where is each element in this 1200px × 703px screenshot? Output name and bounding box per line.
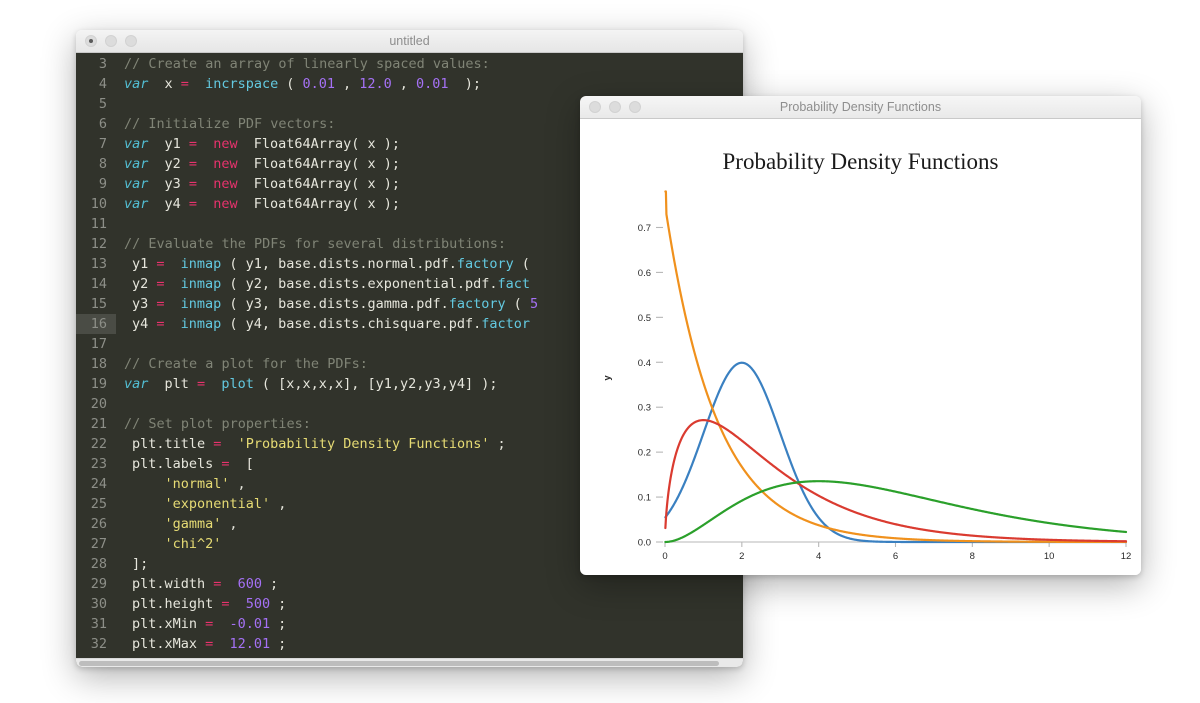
line-number: 22 — [76, 434, 116, 454]
line-number: 3 — [76, 54, 116, 74]
line-number: 15 — [76, 294, 116, 314]
y-tick-label: 0.5 — [638, 313, 651, 324]
line-source — [116, 334, 124, 354]
x-tick-label: 4 — [816, 551, 821, 562]
line-number: 13 — [76, 254, 116, 274]
y-tick-label: 0.3 — [638, 403, 651, 414]
minimize-button[interactable] — [105, 35, 117, 47]
line-number: 24 — [76, 474, 116, 494]
line-source: ]; — [116, 554, 148, 574]
plot-titlebar[interactable]: Probability Density Functions — [580, 96, 1141, 119]
line-number: 27 — [76, 534, 116, 554]
line-number: 25 — [76, 494, 116, 514]
line-number: 9 — [76, 174, 116, 194]
code-line[interactable]: 31plt.xMin = -0.01; — [76, 614, 743, 634]
line-source: plt.height = 500; — [116, 594, 286, 614]
line-source: plt.labels = [ — [116, 454, 254, 474]
line-number: 28 — [76, 554, 116, 574]
line-number: 21 — [76, 414, 116, 434]
line-source: // Evaluate the PDFs for several distrib… — [116, 234, 506, 254]
x-tick-label: 2 — [739, 551, 744, 562]
line-source: var y1 = new Float64Array( x ); — [116, 134, 400, 154]
line-number: 31 — [76, 614, 116, 634]
line-source: 'exponential', — [116, 494, 286, 514]
line-number: 12 — [76, 234, 116, 254]
line-number: 8 — [76, 154, 116, 174]
line-source: 'gamma', — [116, 514, 238, 534]
x-tick-label: 0 — [662, 551, 667, 562]
line-number: 32 — [76, 634, 116, 654]
y-axis-label: y — [602, 375, 613, 381]
plot-window[interactable]: Probability Density Functions Probabilit… — [580, 96, 1141, 575]
line-number: 29 — [76, 574, 116, 594]
line-number: 6 — [76, 114, 116, 134]
line-number: 18 — [76, 354, 116, 374]
editor-window-controls[interactable] — [76, 35, 137, 47]
line-number: 26 — [76, 514, 116, 534]
line-number: 4 — [76, 74, 116, 94]
minimize-button[interactable] — [609, 101, 621, 113]
x-tick-label: 10 — [1044, 551, 1055, 562]
code-line[interactable]: 29plt.width = 600; — [76, 574, 743, 594]
y-tick-label: 0.6 — [638, 268, 651, 279]
line-source: var x = incrspace( 0.01, 12.0, 0.01 ); — [116, 74, 481, 94]
x-tick-label: 8 — [970, 551, 975, 562]
line-number: 30 — [76, 594, 116, 614]
line-source: plt.xMin = -0.01; — [116, 614, 286, 634]
line-source: y4 = inmap( y4, base.dists.chisquare.pdf… — [116, 314, 530, 334]
y-tick-label: 0.4 — [638, 358, 651, 369]
line-source: 'normal', — [116, 474, 246, 494]
code-line[interactable]: 32plt.xMax = 12.01; — [76, 634, 743, 654]
line-number: 16 — [76, 314, 116, 334]
y-tick-label: 0.1 — [638, 493, 651, 504]
line-source — [116, 94, 124, 114]
line-number: 7 — [76, 134, 116, 154]
chart-figure: 0246810120.00.10.20.30.40.50.60.7xy — [580, 119, 1141, 575]
line-source: var y3 = new Float64Array( x ); — [116, 174, 400, 194]
code-line[interactable]: 30plt.height = 500; — [76, 594, 743, 614]
plot-window-title: Probability Density Functions — [580, 100, 1141, 114]
line-number: 5 — [76, 94, 116, 114]
line-source: // Create an array of linearly spaced va… — [116, 54, 490, 74]
close-button[interactable] — [589, 101, 601, 113]
editor-window-title: untitled — [76, 34, 743, 48]
line-source: // Set plot properties: — [116, 414, 311, 434]
line-source — [116, 394, 124, 414]
y-tick-label: 0.2 — [638, 448, 651, 459]
code-line[interactable]: 3// Create an array of linearly spaced v… — [76, 54, 743, 74]
line-number: 10 — [76, 194, 116, 214]
y-tick-label: 0.0 — [638, 538, 651, 549]
line-number: 17 — [76, 334, 116, 354]
line-source: y3 = inmap( y3, base.dists.gamma.pdf.fac… — [116, 294, 538, 314]
line-number: 20 — [76, 394, 116, 414]
line-source: 'chi^2' — [116, 534, 221, 554]
line-source: var y2 = new Float64Array( x ); — [116, 154, 400, 174]
plot-body: Probability Density Functions 0246810120… — [580, 119, 1141, 575]
line-source: var plt = plot( [x,x,x,x], [y1,y2,y3,y4]… — [116, 374, 498, 394]
line-source: var y4 = new Float64Array( x ); — [116, 194, 400, 214]
line-number: 23 — [76, 454, 116, 474]
line-source: // Initialize PDF vectors: — [116, 114, 335, 134]
editor-horizontal-scrollbar[interactable] — [76, 658, 743, 667]
line-source: y2 = inmap( y2, base.dists.exponential.p… — [116, 274, 530, 294]
close-button[interactable] — [85, 35, 97, 47]
zoom-button[interactable] — [629, 101, 641, 113]
series-line-chi-2 — [665, 481, 1126, 542]
line-number: 11 — [76, 214, 116, 234]
line-number: 14 — [76, 274, 116, 294]
line-source: // Create a plot for the PDFs: — [116, 354, 368, 374]
line-source — [116, 214, 124, 234]
editor-titlebar[interactable]: untitled — [76, 30, 743, 53]
code-line[interactable]: 4var x = incrspace( 0.01, 12.0, 0.01 ); — [76, 74, 743, 94]
zoom-button[interactable] — [125, 35, 137, 47]
line-source: plt.title = 'Probability Density Functio… — [116, 434, 506, 454]
plot-window-controls[interactable] — [580, 101, 641, 113]
x-tick-label: 12 — [1121, 551, 1132, 562]
line-number: 19 — [76, 374, 116, 394]
series-line-normal — [665, 363, 1126, 542]
line-source: plt.width = 600; — [116, 574, 278, 594]
y-tick-label: 0.7 — [638, 223, 651, 234]
line-source: y1 = inmap( y1, base.dists.normal.pdf.fa… — [116, 254, 530, 274]
x-tick-label: 6 — [893, 551, 898, 562]
line-source: plt.xMax = 12.01; — [116, 634, 286, 654]
